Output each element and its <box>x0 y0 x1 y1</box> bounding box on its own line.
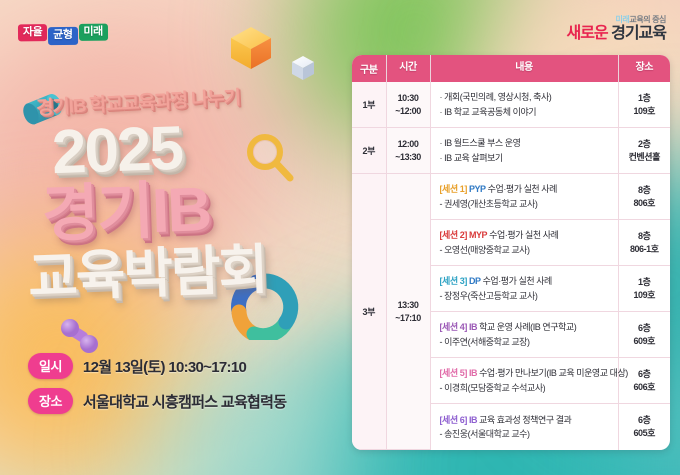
cell-content: IB 월드스쿨 부스 운영 IB 교육 살펴보기 <box>430 128 618 174</box>
place-floor: 6층 <box>619 414 671 427</box>
brand-chip-1: 자율 <box>18 24 47 42</box>
place-room: 609호 <box>619 335 671 348</box>
cell-time: 10:30 ~12:00 <box>386 82 430 128</box>
session-presenter: - 이주연(서해중학교 교장) <box>440 335 611 349</box>
magnifier-icon <box>245 132 295 184</box>
session-tag: [세션 6] <box>440 415 467 425</box>
brand-right-sub-highlight: 미래 <box>615 15 629 24</box>
cell-place: 6층 609호 <box>618 312 670 358</box>
session-title: [세션 3] DP 수업·평가 실천 사례 <box>440 274 611 288</box>
poster-canvas: 자율 균형 미래 미래교육의 중심 새로운 경기교육 경기IB 학교교육과정 나… <box>0 0 680 475</box>
cell-time-start: 13:30 <box>387 299 430 311</box>
cell-content: [세션 6] IB 교육 효과성 정책연구 결과 - 송진웅(서울대학교 교수) <box>430 404 618 450</box>
table-row: 1부 10:30 ~12:00 개회(국민의례, 영상시청, 축사) IB 학교… <box>352 82 670 128</box>
session-presenter: - 장정우(죽산고등학교 교사) <box>440 289 611 303</box>
cell-place: 6층 606호 <box>618 358 670 404</box>
header-part: 구분 <box>352 55 386 82</box>
cell-place: 6층 605호 <box>618 404 670 450</box>
session-tag: [세션 1] <box>440 184 467 194</box>
session-topic: 교육 효과성 정책연구 결과 <box>477 415 571 425</box>
session-program: IB <box>469 415 477 425</box>
brand-right-word-2: 경기교육 <box>611 25 666 42</box>
cell-content: [세션 2] MYP 수업·평가 실천 사례 - 오영선(매양중학교 교사) <box>430 220 618 266</box>
session-program: DP <box>469 276 481 286</box>
content-line: IB 월드스쿨 부스 운영 <box>440 136 611 150</box>
place-room: 605호 <box>619 427 671 440</box>
cell-content: [세션 3] DP 수업·평가 실천 사례 - 장정우(죽산고등학교 교사) <box>430 266 618 312</box>
cell-place: 1층 109호 <box>618 266 670 312</box>
info-value-place: 서울대학교 시흥캠퍼스 교육협력동 <box>83 391 286 412</box>
cube-white-decoration <box>290 55 316 81</box>
content-line: IB 교육 살펴보기 <box>440 151 611 165</box>
header-place: 장소 <box>618 55 670 82</box>
session-presenter: - 이경희(모담중학교 수석교사) <box>440 381 611 395</box>
place-room: 806-1호 <box>619 243 671 256</box>
brand-right-sub-rest: 교육의 중심 <box>629 15 666 24</box>
session-presenter: - 송진웅(서울대학교 교수) <box>440 427 611 441</box>
cell-time-start: 12:00 <box>387 138 430 150</box>
session-program: MYP <box>469 230 487 240</box>
schedule-header-row: 구분 시간 내용 장소 <box>352 55 670 82</box>
session-topic: 수업·평가 실천 사례 <box>487 230 558 240</box>
header-content: 내용 <box>430 55 618 82</box>
session-program: IB <box>469 368 477 378</box>
headline-title-pink: 경기IB <box>41 179 211 247</box>
schedule-table-body: 1부 10:30 ~12:00 개회(국민의례, 영상시청, 축사) IB 학교… <box>352 82 670 450</box>
place-room: 109호 <box>619 289 671 302</box>
brand-chip-2: 균형 <box>48 27 77 45</box>
session-topic: 수업·평가 실천 사례 <box>481 276 552 286</box>
cell-time-end: ~13:30 <box>387 151 430 163</box>
cell-content: 개회(국민의례, 영상시청, 축사) IB 학교 교육공동체 이야기 <box>430 82 618 128</box>
session-program: PYP <box>469 184 486 194</box>
table-row: 2부 12:00 ~13:30 IB 월드스쿨 부스 운영 IB 교육 살펴보기… <box>352 128 670 174</box>
schedule-table-card: 구분 시간 내용 장소 1부 10:30 ~12:00 개회(국민의례, 영상시… <box>352 55 670 450</box>
session-tag: [세션 4] <box>440 322 467 332</box>
place-floor: 8층 <box>619 184 671 197</box>
content-line: IB 학교 교육공동체 이야기 <box>440 105 611 119</box>
info-label-date: 일시 <box>28 353 73 379</box>
cell-part: 3부 <box>352 174 386 450</box>
info-row-place: 장소 서울대학교 시흥캠퍼스 교육협력동 <box>28 388 286 414</box>
cube-orange-decoration <box>228 25 274 71</box>
session-title: [세션 4] IB 학교 운영 사례(IB 연구학교) <box>440 320 611 334</box>
session-title: [세션 1] PYP 수업·평가 실천 사례 <box>440 182 611 196</box>
table-row: 3부 13:30 ~17:10 [세션 1] PYP 수업·평가 실천 사례 -… <box>352 174 670 220</box>
cell-content: [세션 4] IB 학교 운영 사례(IB 연구학교) - 이주연(서해중학교 … <box>430 312 618 358</box>
content-line: 개회(국민의례, 영상시청, 축사) <box>440 90 611 104</box>
session-title: [세션 6] IB 교육 효과성 정책연구 결과 <box>440 413 611 427</box>
event-info-block: 일시 12월 13일(토) 10:30~17:10 장소 서울대학교 시흥캠퍼스… <box>28 353 286 423</box>
session-tag: [세션 3] <box>440 276 467 286</box>
session-presenter: - 오영선(매양중학교 교사) <box>440 243 611 257</box>
place-room: 806호 <box>619 197 671 210</box>
schedule-table: 구분 시간 내용 장소 1부 10:30 ~12:00 개회(국민의례, 영상시… <box>352 55 670 450</box>
brand-chip-3: 미래 <box>78 23 107 41</box>
place-floor: 8층 <box>619 230 671 243</box>
cell-place: 1층 109호 <box>618 82 670 128</box>
cell-part: 2부 <box>352 128 386 174</box>
session-presenter: - 권세영(개산초등학교 교사) <box>440 197 611 211</box>
session-title: [세션 2] MYP 수업·평가 실천 사례 <box>440 228 611 242</box>
cell-time-start: 10:30 <box>387 92 430 104</box>
session-tag: [세션 2] <box>440 230 467 240</box>
session-topic: 수업·평가 실천 사례 <box>486 184 557 194</box>
session-topic: 학교 운영 사례(IB 연구학교) <box>477 322 576 332</box>
place-floor: 1층 <box>619 92 671 105</box>
info-row-date: 일시 12월 13일(토) 10:30~17:10 <box>28 353 286 379</box>
cell-place: 8층 806호 <box>618 174 670 220</box>
place-floor: 1층 <box>619 276 671 289</box>
header-time: 시간 <box>386 55 430 82</box>
brand-right-subtitle: 미래교육의 중심 <box>566 14 666 25</box>
place-room: 606호 <box>619 381 671 394</box>
cell-time: 12:00 ~13:30 <box>386 128 430 174</box>
headline-year: 2025 <box>51 118 183 184</box>
place-floor: 2층 <box>619 138 671 151</box>
cell-content: [세션 1] PYP 수업·평가 실천 사례 - 권세영(개산초등학교 교사) <box>430 174 618 220</box>
place-floor: 6층 <box>619 322 671 335</box>
schedule-table-head: 구분 시간 내용 장소 <box>352 55 670 82</box>
cell-time-end: ~12:00 <box>387 105 430 117</box>
cell-content: [세션 5] IB 수업·평가 만나보기(IB 교육 미운영교 대상) - 이경… <box>430 358 618 404</box>
brand-right-word-1: 새로운 <box>566 25 607 42</box>
cell-place: 2층 컨벤션홀 <box>618 128 670 174</box>
info-value-date: 12월 13일(토) 10:30~17:10 <box>83 356 246 377</box>
dumbbell-purple-decoration <box>58 318 104 354</box>
brand-logo-left: 자율 균형 미래 <box>18 20 108 45</box>
session-program: IB <box>469 322 477 332</box>
session-topic: 수업·평가 만나보기(IB 교육 미운영교 대상) <box>477 368 628 378</box>
brand-right-title: 새로운 경기교육 <box>566 26 666 42</box>
cell-place: 8층 806-1호 <box>618 220 670 266</box>
place-room: 109호 <box>619 105 671 118</box>
info-label-place: 장소 <box>28 388 73 414</box>
headline-title-white: 교육박람회 <box>27 243 267 305</box>
session-tag: [세션 5] <box>440 368 467 378</box>
place-room: 컨벤션홀 <box>619 151 671 164</box>
session-title: [세션 5] IB 수업·평가 만나보기(IB 교육 미운영교 대상) <box>440 366 611 380</box>
cell-part: 1부 <box>352 82 386 128</box>
cell-time: 13:30 ~17:10 <box>386 174 430 450</box>
cell-time-end: ~17:10 <box>387 312 430 324</box>
brand-logo-right: 미래교육의 중심 새로운 경기교육 <box>566 14 666 42</box>
